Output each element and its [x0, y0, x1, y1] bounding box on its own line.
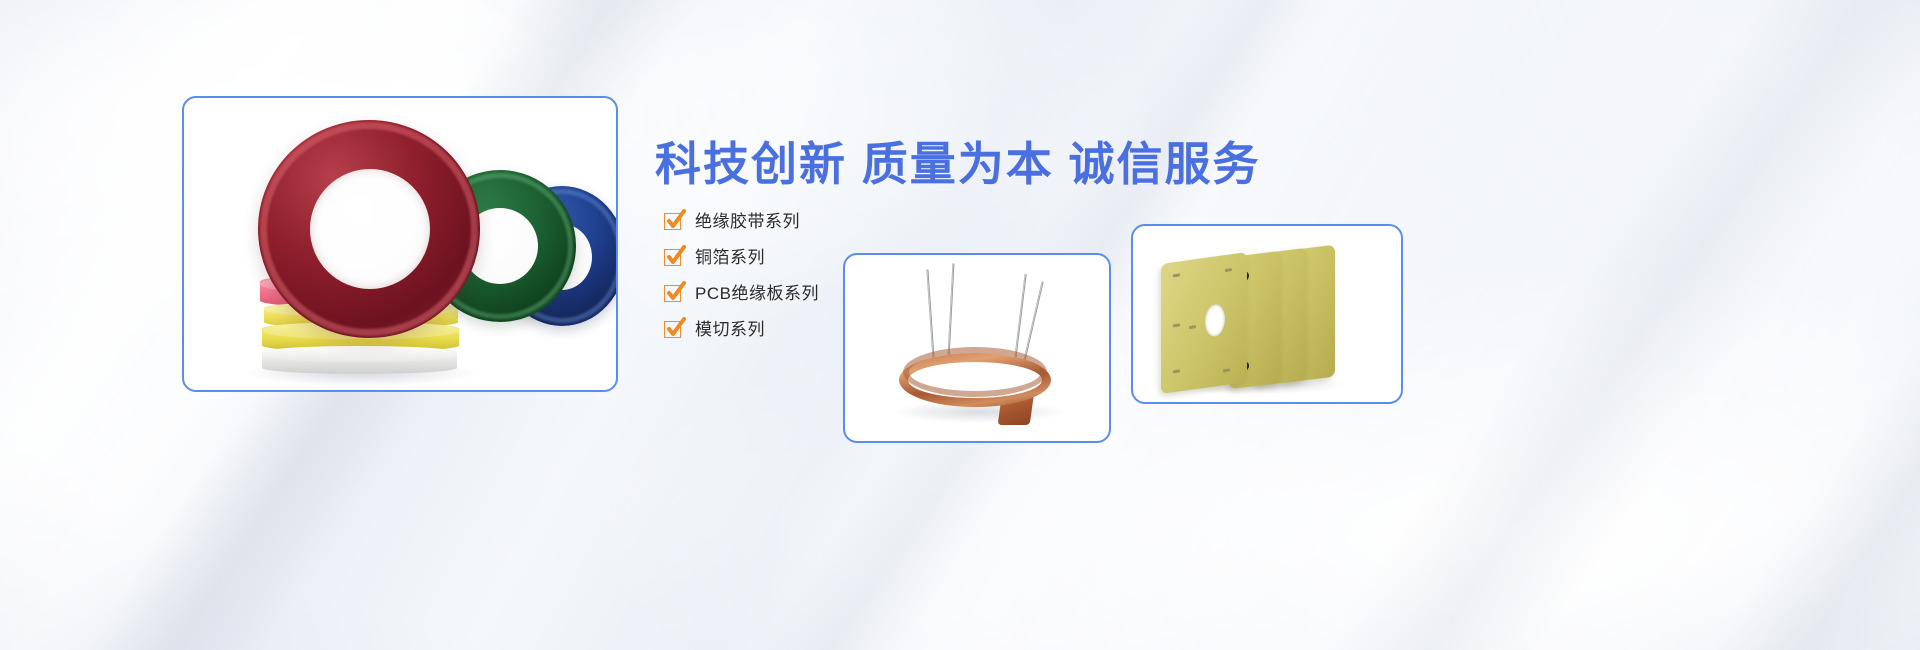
board-pin: [1173, 369, 1180, 373]
list-item-label: 铜箔系列: [695, 249, 765, 266]
board-pin: [1173, 323, 1180, 327]
board-oval-slot: [1205, 303, 1225, 338]
tape-roll-white: [262, 346, 457, 374]
promo-banner: 科技创新 质量为本 诚信服务 绝缘胶带系列 铜箔系列: [0, 0, 1920, 650]
list-item-label: 绝缘胶带系列: [695, 213, 800, 230]
board-pin: [1173, 273, 1180, 277]
list-item-label: PCB绝缘板系列: [695, 285, 819, 302]
insulating-tape-rolls-photo: [184, 98, 616, 390]
board-pin: [1223, 368, 1230, 372]
list-item[interactable]: PCB绝缘板系列: [664, 275, 819, 311]
checkbox-checked-icon: [664, 285, 681, 302]
checkbox-checked-icon: [664, 213, 681, 230]
copper-foil-coil-card[interactable]: [843, 253, 1111, 443]
board-pin: [1189, 325, 1196, 329]
pcb-insulation-boards-photo: [1133, 226, 1401, 402]
pcb-insulation-boards-card[interactable]: [1131, 224, 1403, 404]
insulating-tape-rolls-card[interactable]: [182, 96, 618, 392]
list-item[interactable]: 模切系列: [664, 311, 819, 347]
board-pin: [1225, 268, 1232, 272]
list-item[interactable]: 绝缘胶带系列: [664, 203, 819, 239]
copper-foil-coil-photo: [845, 255, 1109, 441]
tape-roll-red: [258, 120, 480, 338]
product-series-list: 绝缘胶带系列 铜箔系列 PCB绝缘板系列 模切: [664, 203, 819, 347]
list-item-label: 模切系列: [695, 321, 765, 338]
copper-foil-inner-wrap: [903, 347, 1047, 397]
pcb-board-front: [1161, 252, 1247, 394]
tape-rim-highlight: [260, 122, 478, 336]
checkbox-checked-icon: [664, 249, 681, 266]
list-item[interactable]: 铜箔系列: [664, 239, 819, 275]
checkbox-checked-icon: [664, 321, 681, 338]
banner-headline: 科技创新 质量为本 诚信服务: [655, 128, 1261, 194]
